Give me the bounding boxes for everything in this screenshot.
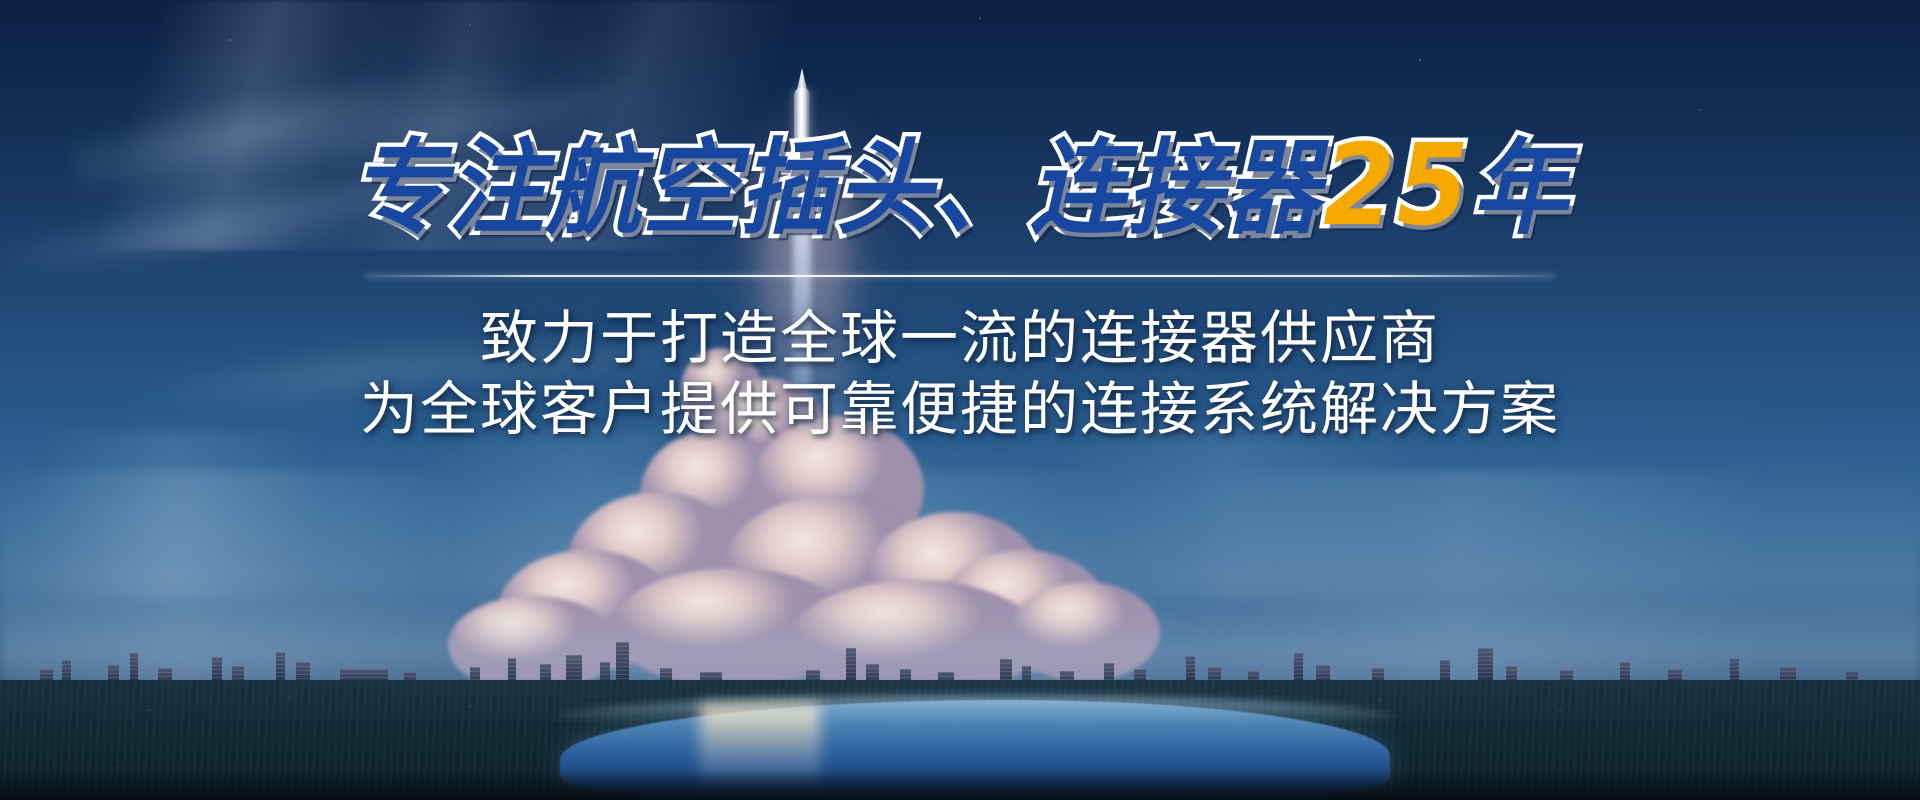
headline-prefix: 专注航空插头、连接器 <box>351 137 1321 241</box>
headline-years-number: 25 <box>1323 129 1470 241</box>
banner-headline: 专注航空插头、连接器 25 年 <box>351 129 1569 241</box>
subtitle-line-1: 致力于打造全球一流的连接器供应商 <box>360 305 1560 372</box>
banner-content: 专注航空插头、连接器 25 年 致力于打造全球一流的连接器供应商 为全球客户提供… <box>0 0 1920 800</box>
hero-banner: 专注航空插头、连接器 25 年 致力于打造全球一流的连接器供应商 为全球客户提供… <box>0 0 1920 800</box>
subtitle-line-2: 为全球客户提供可靠便捷的连接系统解决方案 <box>360 376 1560 443</box>
headline-suffix: 年 <box>1472 137 1569 241</box>
banner-subtitle: 致力于打造全球一流的连接器供应商 为全球客户提供可靠便捷的连接系统解决方案 <box>360 305 1560 444</box>
headline-divider <box>365 275 1555 277</box>
